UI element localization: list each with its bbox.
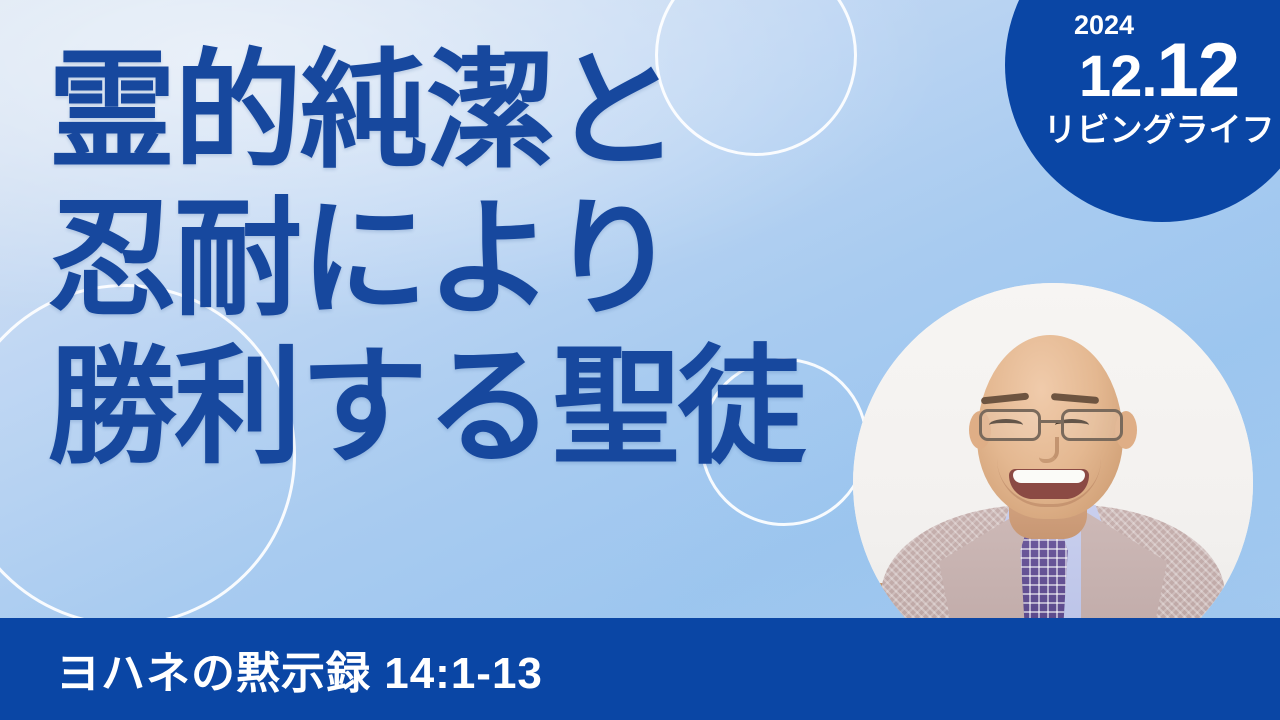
badge-day: 12 [1157,28,1240,113]
badge-month: 12 [1079,44,1142,109]
speaker-teeth [1013,470,1085,483]
eyeglass-lens-right [1061,409,1123,441]
bottom-bar: ヨハネの黙示録 14:1-13 [0,618,1280,720]
scripture-reference: ヨハネの黙示録 14:1-13 [0,637,543,701]
badge-date: 12.12 [1005,35,1280,108]
badge-separator: . [1141,44,1156,109]
title-line-3: 勝利する聖徒 [48,334,848,482]
title-line-1: 霊的純潔と [48,38,848,186]
date-badge-content: 2024 12.12 リビングライフ [1005,12,1280,148]
speaker-mouth [1009,469,1089,499]
badge-program-label: リビングライフ [1005,112,1280,148]
page-title: 霊的純潔と 忍耐により 勝利する聖徒 [48,38,848,482]
eyeglass-lens-left [979,409,1041,441]
eyeglass-bridge [1039,420,1063,423]
title-line-2: 忍耐により [48,186,848,334]
thumbnail-canvas: 霊的純潔と 忍耐により 勝利する聖徒 [0,0,1280,720]
